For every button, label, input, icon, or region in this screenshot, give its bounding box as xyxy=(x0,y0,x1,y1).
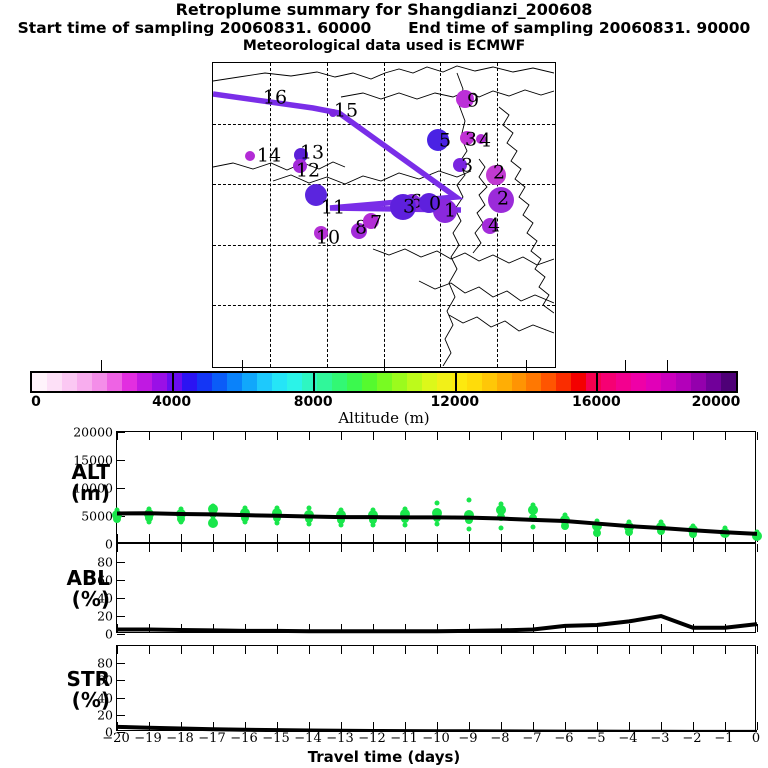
colorbar-segment xyxy=(616,373,631,391)
colorbar-segment xyxy=(92,373,107,391)
x-axis-tick-label: −7 xyxy=(522,731,541,746)
colorbar-segment-divider xyxy=(596,371,598,393)
panel-label-unit: (%) xyxy=(6,589,110,610)
colorbar-segment xyxy=(167,373,182,391)
x-axis-tick-label: −3 xyxy=(650,731,669,746)
map-day-label: 15 xyxy=(334,102,358,121)
panel-row-label: ALT(m) xyxy=(6,462,110,504)
x-axis-tick-label: −5 xyxy=(586,731,605,746)
colorbar-segment xyxy=(137,373,152,391)
colorbar-segment xyxy=(646,373,661,391)
colorbar-segment xyxy=(661,373,676,391)
colorbar-segment xyxy=(242,373,257,391)
colorbar-segment xyxy=(197,373,212,391)
colorbar-segment xyxy=(482,373,497,391)
map-day-label: 12 xyxy=(296,162,320,181)
panel-row-label: STR(%) xyxy=(6,669,110,711)
x-axis-tick-label: −8 xyxy=(490,731,509,746)
x-axis-tick-label: −11 xyxy=(390,731,417,746)
colorbar-tick-label: 20000 xyxy=(692,394,741,410)
colorbar-segment xyxy=(317,373,332,391)
x-axis-tick-label: −10 xyxy=(422,731,449,746)
colorbar-segment-divider xyxy=(172,371,174,393)
colorbar-segment xyxy=(691,373,706,391)
colorbar-segment xyxy=(257,373,272,391)
colorbar-segment xyxy=(377,373,392,391)
colorbar-segment xyxy=(541,373,556,391)
x-axis-tick-label: −18 xyxy=(166,731,193,746)
y-tick-label: 20000 xyxy=(73,425,113,440)
colorbar-segment xyxy=(631,373,646,391)
map-day-label: 4 xyxy=(479,132,491,151)
panel-label-unit: (%) xyxy=(6,690,110,711)
colorbar-tick xyxy=(242,360,243,371)
x-tick-mark-top xyxy=(757,432,758,440)
map-day-label: 16 xyxy=(263,89,287,108)
colorbar-segment xyxy=(362,373,377,391)
start-time-label: Start time of sampling 20060831. 60000 xyxy=(18,19,372,37)
colorbar-segment xyxy=(721,373,736,391)
x-tick-mark xyxy=(757,624,758,632)
map-day-label: 2 xyxy=(493,164,505,183)
y-tick-label: 5000 xyxy=(81,509,113,524)
panel-alt[interactable]: 05000100001500020000 xyxy=(116,431,756,543)
y-tick-label: 0 xyxy=(105,627,113,642)
colorbar-segment xyxy=(62,373,77,391)
x-tick-mark-top xyxy=(757,646,758,654)
colorbar-segment xyxy=(676,373,691,391)
retroplume-map[interactable]: 1615141312111087653439221034 xyxy=(212,62,556,368)
colorbar-segment xyxy=(107,373,122,391)
panel-abl[interactable]: 020406080 xyxy=(116,543,756,633)
map-day-label: 1 xyxy=(444,202,456,221)
panel-label-name: ALT xyxy=(6,462,110,483)
altitude-colorbar[interactable] xyxy=(30,371,738,393)
colorbar-tick xyxy=(667,360,668,371)
trend-line-str xyxy=(117,646,757,732)
colorbar-segment xyxy=(586,373,601,391)
colorbar-segment xyxy=(706,373,721,391)
panel-label-name: ABL xyxy=(6,568,110,589)
map-day-label: 5 xyxy=(439,132,451,151)
colorbar-segment xyxy=(227,373,242,391)
trend-line-abl xyxy=(117,544,757,634)
x-axis-tick-label: −15 xyxy=(262,731,289,746)
colorbar-tick-label: 12000 xyxy=(430,394,479,410)
x-axis-tick-label: −4 xyxy=(618,731,637,746)
colorbar-segment-divider xyxy=(313,371,315,393)
x-axis-tick-label: 0 xyxy=(752,731,760,746)
colorbar-segment xyxy=(512,373,527,391)
colorbar-segment xyxy=(407,373,422,391)
colorbar-segment xyxy=(152,373,167,391)
colorbar-segment xyxy=(392,373,407,391)
x-axis-tick-label: −1 xyxy=(714,731,733,746)
panel-row-label: ABL(%) xyxy=(6,568,110,610)
map-day-label: 11 xyxy=(321,199,345,218)
colorbar-segment xyxy=(287,373,302,391)
x-axis-tick-label: −2 xyxy=(682,731,701,746)
colorbar-tick-label: 4000 xyxy=(152,394,191,410)
map-day-label: 4 xyxy=(488,217,500,236)
map-day-label: 14 xyxy=(257,147,281,166)
y-tick-mark xyxy=(117,634,125,635)
map-day-label: 2 xyxy=(497,190,509,209)
x-axis-tick-label: −6 xyxy=(554,731,573,746)
x-axis-tick-label: −12 xyxy=(358,731,385,746)
colorbar-segment xyxy=(32,373,47,391)
colorbar-tick-label: 16000 xyxy=(572,394,621,410)
colorbar-title: Altitude (m) xyxy=(0,409,768,427)
map-day-label: 10 xyxy=(316,229,340,248)
x-axis-tick-label: −13 xyxy=(326,731,353,746)
colorbar-segment xyxy=(47,373,62,391)
met-data-label: Meteorological data used is ECMWF xyxy=(0,38,768,55)
x-tick-mark-top xyxy=(757,544,758,552)
x-axis-title: Travel time (days) xyxy=(0,748,768,766)
trend-line-alt xyxy=(117,432,757,544)
colorbar-tick xyxy=(384,360,385,371)
colorbar-segment xyxy=(526,373,541,391)
colorbar-segment xyxy=(182,373,197,391)
colorbar-segment xyxy=(437,373,452,391)
colorbar-segment xyxy=(122,373,137,391)
colorbar-segment xyxy=(422,373,437,391)
colorbar-tick-label: 0 xyxy=(31,394,41,410)
colorbar-segment-divider xyxy=(455,371,457,393)
colorbar-segment xyxy=(272,373,287,391)
panel-label-name: STR xyxy=(6,669,110,690)
x-axis-tick-label: −19 xyxy=(134,731,161,746)
x-axis-tick-labels: −20−19−18−17−16−15−14−13−12−11−10−9−8−7−… xyxy=(116,731,756,747)
panel-str[interactable]: 020406080 xyxy=(116,645,756,731)
map-day-label: 9 xyxy=(467,92,479,111)
sampling-time-line: Start time of sampling 20060831. 60000 E… xyxy=(0,19,768,38)
x-axis-tick-label: −20 xyxy=(102,731,129,746)
colorbar-segment xyxy=(332,373,347,391)
title-block: Retroplume summary for Shangdianzi_20060… xyxy=(0,0,768,55)
x-axis-tick-label: −14 xyxy=(294,731,321,746)
map-day-label: 3 xyxy=(403,198,415,217)
colorbar-segment xyxy=(452,373,467,391)
colorbar-tick xyxy=(625,360,626,371)
colorbar-segment xyxy=(77,373,92,391)
colorbar-tick xyxy=(101,360,102,371)
colorbar-segment xyxy=(571,373,586,391)
map-day-label: 7 xyxy=(370,214,382,233)
end-time-label: End time of sampling 20060831. 90000 xyxy=(408,19,750,37)
x-axis-tick-label: −16 xyxy=(230,731,257,746)
x-axis-tick-label: −9 xyxy=(458,731,477,746)
map-day-label: 0 xyxy=(429,195,441,214)
page-title: Retroplume summary for Shangdianzi_20060… xyxy=(0,0,768,19)
map-particle-dot xyxy=(245,151,255,161)
colorbar-segment xyxy=(467,373,482,391)
y-tick-label: 0 xyxy=(105,537,113,552)
colorbar-tick xyxy=(526,360,527,371)
colorbar-tick-label: 8000 xyxy=(294,394,333,410)
colorbar-segment xyxy=(601,373,616,391)
panel-label-unit: (m) xyxy=(6,483,110,504)
x-axis-tick-label: −17 xyxy=(198,731,225,746)
colorbar-segment xyxy=(212,373,227,391)
x-tick-mark xyxy=(757,722,758,730)
colorbar-segment xyxy=(497,373,512,391)
colorbar-segment xyxy=(347,373,362,391)
colorbar-segment xyxy=(556,373,571,391)
map-day-label: 3 xyxy=(461,157,473,176)
